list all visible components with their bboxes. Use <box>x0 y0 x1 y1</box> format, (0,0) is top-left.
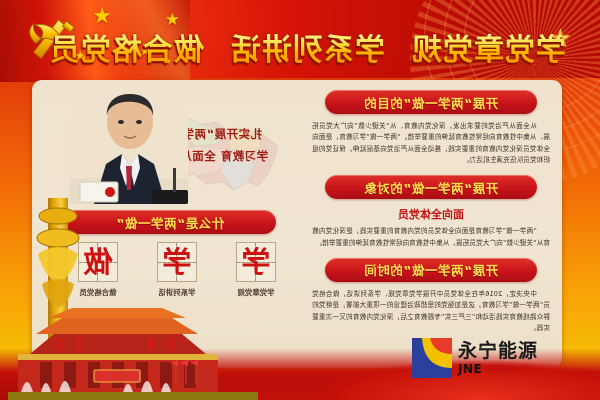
section-heading-label: 什么是“两学一做” <box>116 213 224 232</box>
poster-canvas: ★ ★ ★ ★ ★ ★ 学党章党规 学系列讲话 <box>0 0 600 400</box>
section-heading-definition-wrap: 什么是“两学一做” <box>64 210 276 241</box>
character-box: 学 <box>236 242 276 282</box>
section-subhead-target: 面向全体党员 <box>312 206 550 222</box>
section-body-purpose: 从全面从严治党的要求出发，深化党内教育、从“关键少数”向广大党员拓展、从集中性教… <box>312 121 550 166</box>
title-segment-3: 做合格党员 <box>49 25 204 69</box>
character-glyph: 做 <box>84 248 113 277</box>
logo-region: 宁夏 <box>520 366 529 371</box>
character-box: 学 <box>157 242 197 282</box>
logo-mark-icon <box>412 338 452 378</box>
section-heading-time: 开展“两学一做”的时间 <box>325 258 537 282</box>
section-heading-label: 开展“两学一做”的目的 <box>364 93 498 112</box>
company-logo: 永宁能源 JNE 有限公司 宁夏 <box>412 338 578 378</box>
section-heading-purpose: 开展“两学一做”的目的 <box>325 90 537 114</box>
tiananmen-gate-illustration <box>8 304 258 400</box>
section-heading-label: 开展“两学一做”的对象 <box>364 178 498 197</box>
logo-company-name: 永宁能源 <box>458 342 538 361</box>
content-block-target: 开展“两学一做”的对象 面向全体党员 “两学一做”学习教育是面向全体党员的党内教… <box>312 175 550 249</box>
logo-text: 永宁能源 JNE 有限公司 宁夏 <box>458 342 538 375</box>
section-heading-label: 开展“两学一做”的时间 <box>364 260 498 279</box>
character-cell: 学 学党章党规 <box>228 242 284 298</box>
left-text-column: 开展“两学一做”的目的 从全面从严治党的要求出发，深化党内教育、从“关键少数”向… <box>300 80 562 368</box>
title-segment-1: 学党章党规 <box>411 25 566 69</box>
content-block-time: 开展“两学一做”的时间 中央决定，2016年在全体党员中开展学党章党规、学系列讲… <box>312 258 550 334</box>
section-heading-definition: 什么是“两学一做” <box>64 210 276 234</box>
character-label: 学党章党规 <box>228 287 284 298</box>
poster-title: 学党章党规 学系列讲话 做合格党员 <box>146 26 566 68</box>
content-block-purpose: 开展“两学一做”的目的 从全面从严治党的要求出发，深化党内教育、从“关键少数”向… <box>312 90 550 166</box>
title-segment-2: 学系列讲话 <box>230 25 385 69</box>
character-label: 学系列讲话 <box>149 287 205 298</box>
section-heading-target: 开展“两学一做”的对象 <box>325 175 537 199</box>
character-glyph: 学 <box>242 248 271 277</box>
section-body-target: “两学一做”学习教育是面向全体党员的党内教育的重要实践，是深化党内教育从“关键少… <box>312 226 550 249</box>
character-grid: 学 学党章党规 学 学系列讲话 做 做合格党员 <box>70 242 284 298</box>
character-glyph: 学 <box>163 248 192 277</box>
logo-latin-name: JNE <box>458 363 482 375</box>
leader-portrait <box>70 82 188 204</box>
logo-suffix: 有限公司 <box>486 365 516 373</box>
character-box: 做 <box>78 242 118 282</box>
character-cell: 学 学系列讲话 <box>149 242 205 298</box>
